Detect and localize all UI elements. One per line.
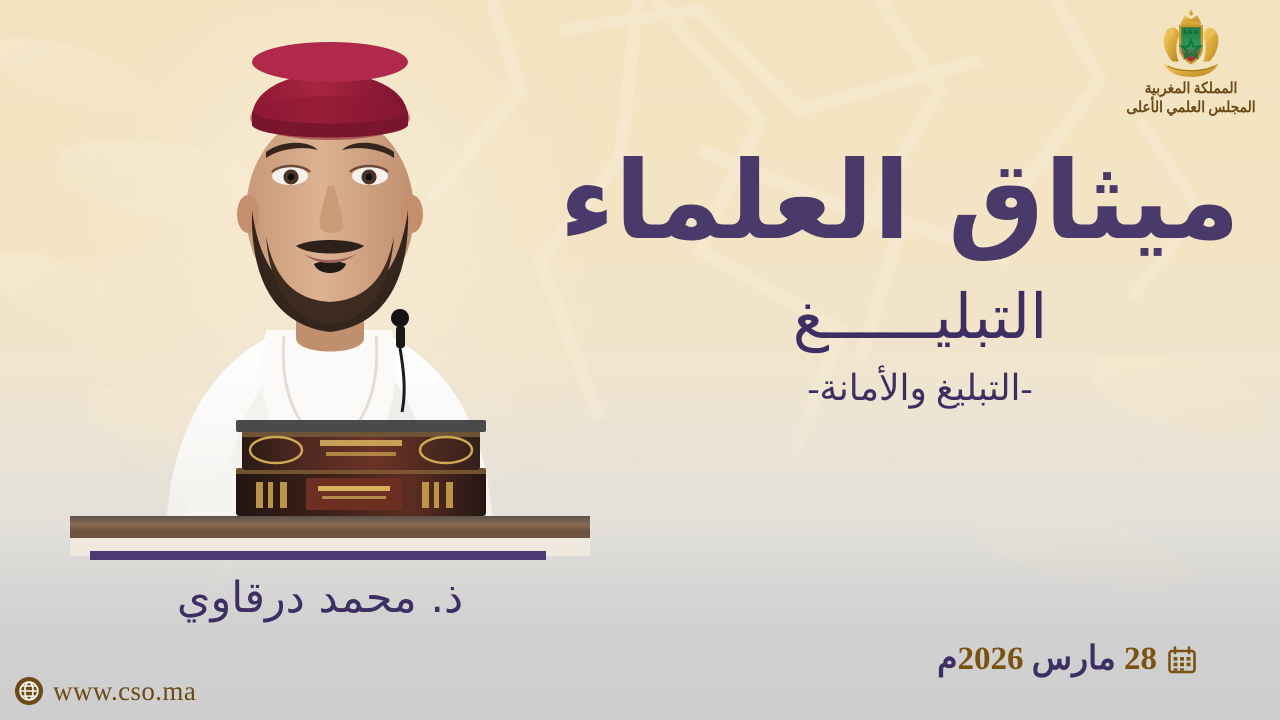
episode-theme: -التبليغ والأمانة- bbox=[600, 369, 1240, 409]
calendar-icon bbox=[1166, 644, 1198, 676]
date-year: 2026 bbox=[958, 641, 1024, 677]
emblem-kingdom-label: المملكة المغربية bbox=[1122, 82, 1260, 98]
speaker-name: ذ. محمد درقاوي bbox=[70, 573, 570, 623]
date-text: 28 مارس 2026م bbox=[937, 643, 1157, 676]
title-block: ميثاق العلماء التبليــــــغ -التبليغ وال… bbox=[600, 150, 1240, 408]
globe-icon bbox=[14, 676, 44, 706]
morocco-coat-of-arms-icon bbox=[1152, 6, 1230, 80]
emblem-council-label: المجلس العلمي الأعلى bbox=[1122, 101, 1260, 117]
broadcast-title-card: ذ. محمد درقاوي bbox=[0, 0, 1280, 720]
date-month: مارس bbox=[1032, 641, 1116, 677]
date-era: م bbox=[937, 641, 957, 677]
main-title: ميثاق العلماء bbox=[600, 150, 1240, 254]
institution-emblem: المملكة المغربية المجلس العلمي الأعلى bbox=[1116, 6, 1266, 117]
website-url[interactable]: www.cso.ma bbox=[53, 678, 196, 705]
episode-subtitle: التبليــــــغ bbox=[600, 286, 1240, 351]
date-day: 28 bbox=[1124, 641, 1157, 677]
speaker-photo bbox=[70, 0, 590, 556]
speaker-divider bbox=[90, 551, 546, 560]
website-footer[interactable]: www.cso.ma bbox=[14, 676, 196, 706]
broadcast-date: 28 مارس 2026م bbox=[937, 643, 1198, 676]
